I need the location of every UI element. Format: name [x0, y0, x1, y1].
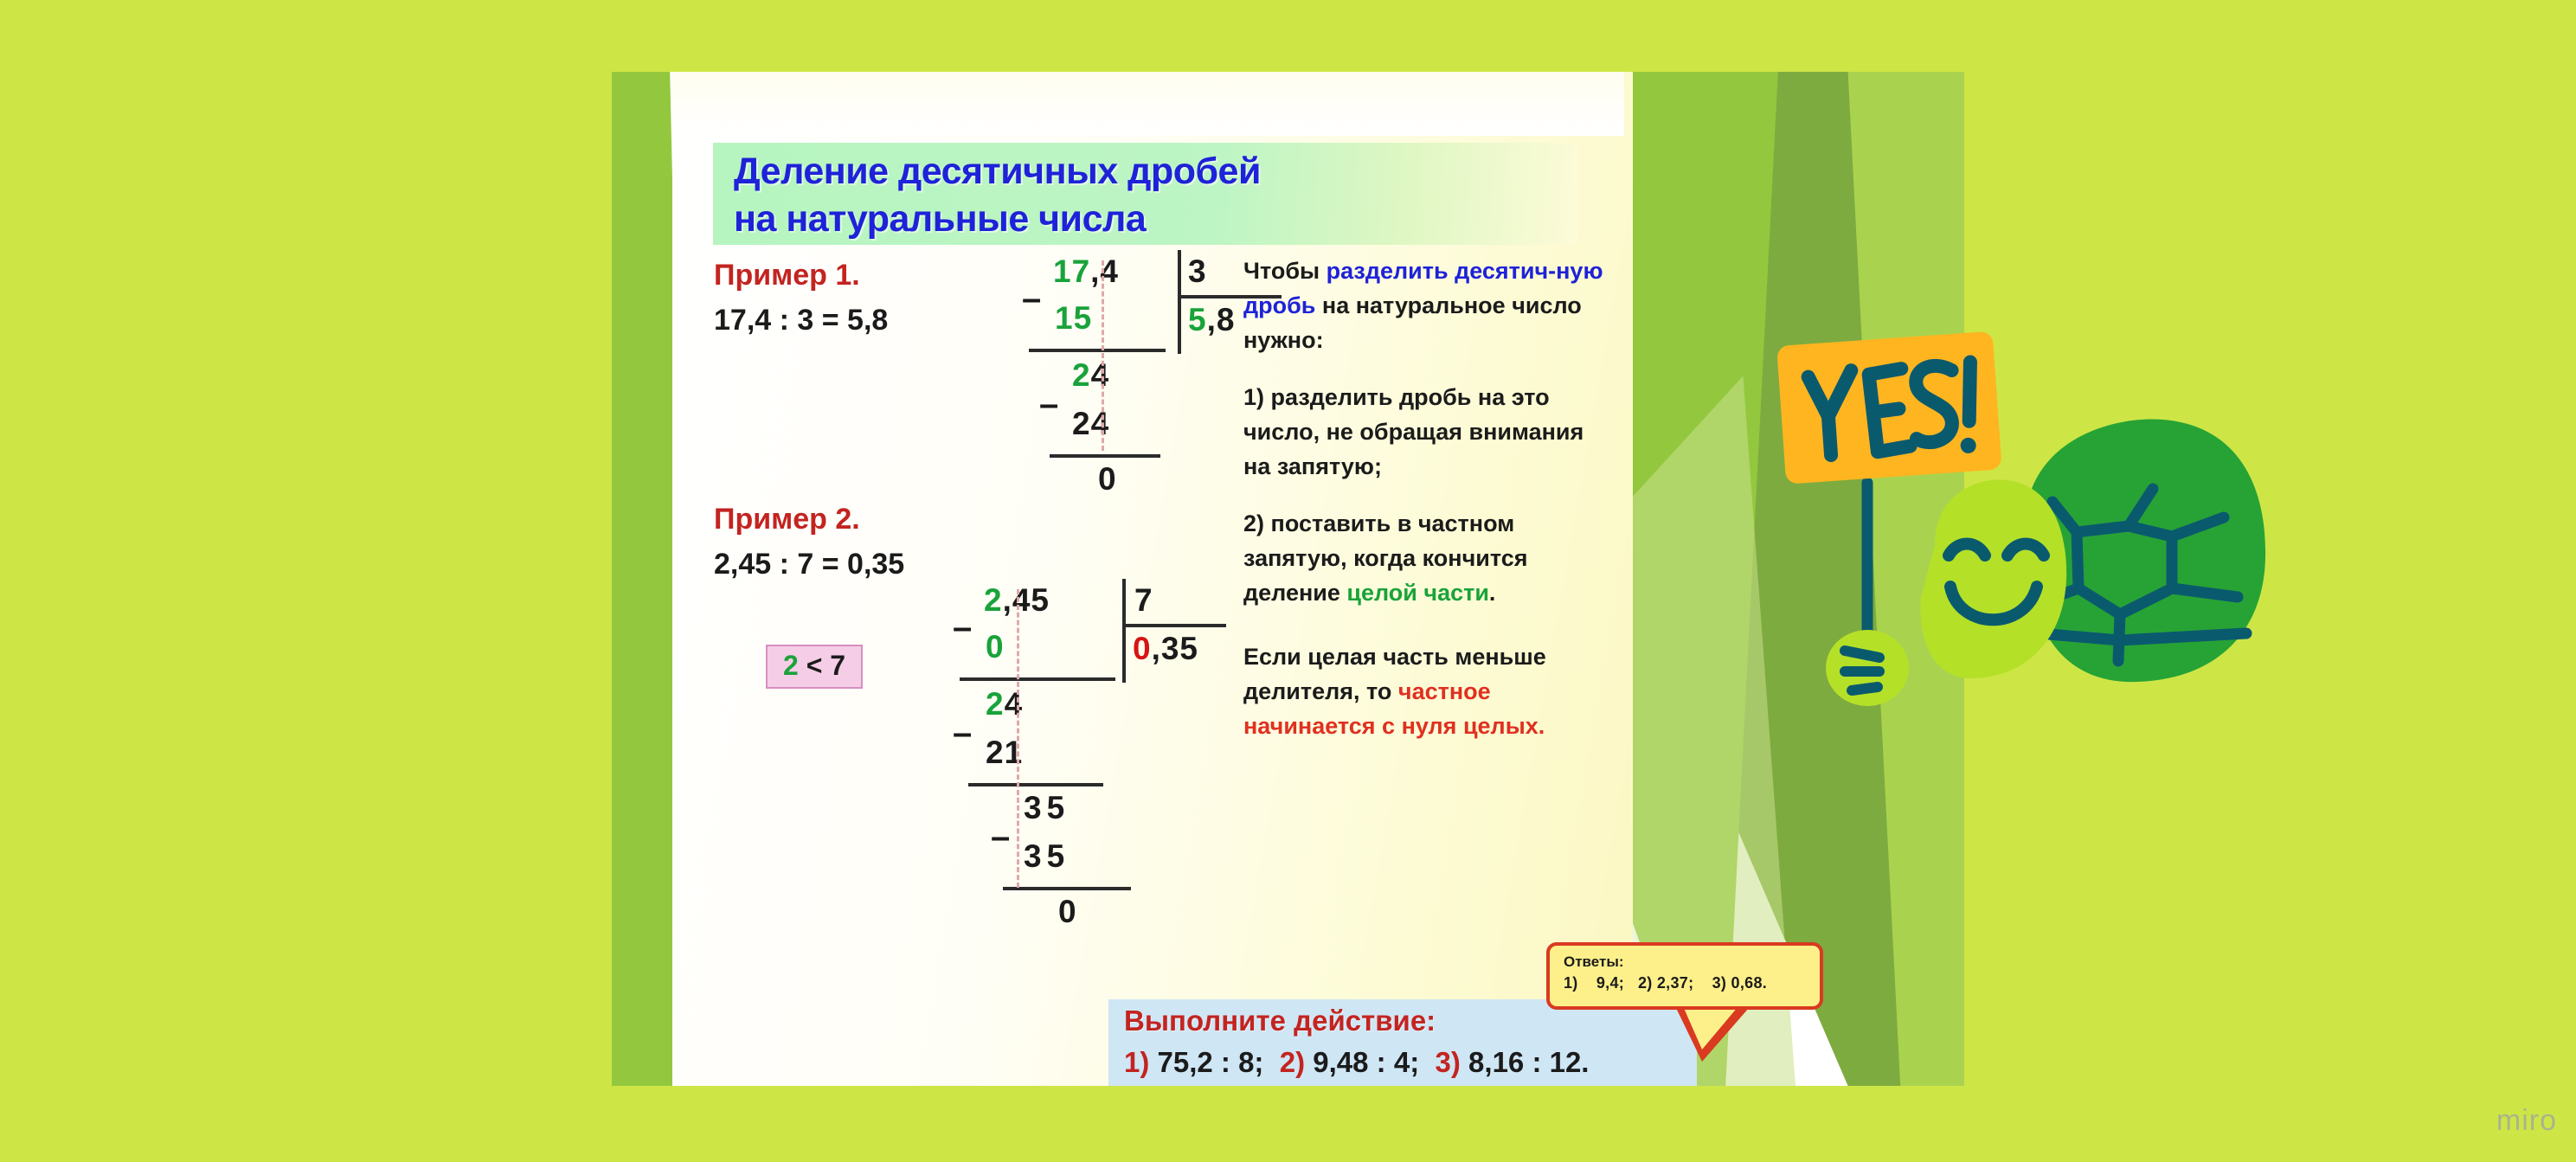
turtle-hand [1826, 630, 1909, 706]
ld2-rule-2 [968, 783, 1103, 786]
ld1-quotient: 5,8 [1188, 302, 1235, 338]
ld2-step-35a: 35 [1024, 790, 1070, 826]
title-line-2: на натуральные числа [734, 196, 1578, 243]
answer-num-1: 1) [1564, 974, 1578, 992]
task-expr-1: 75,2 : 8; [1158, 1046, 1264, 1078]
comparison-badge: 2 < 7 [766, 645, 863, 689]
ld2-decimal-guide [1017, 589, 1019, 888]
ld1-divisor: 3 [1188, 254, 1207, 290]
page-title: Деление десятичных дробей на натуральные… [713, 143, 1578, 245]
examples-column: Пример 1. 17,4 : 3 = 5,8 Пример 2. 2,45 … [690, 254, 1209, 1032]
answer-num-3: 3) [1712, 974, 1727, 992]
slide-card: Деление десятичных дробей на натуральные… [612, 72, 1964, 1086]
task-num-2: 2) [1280, 1046, 1305, 1078]
rule-column: Чтобы разделить десятич-ную дробь на нат… [1243, 254, 1607, 766]
answers-items: 1) 9,4; 2) 2,37; 3) 0,68. [1564, 974, 1820, 992]
task-expr-2: 9,48 : 4; [1313, 1046, 1419, 1078]
answer-num-2: 2) [1638, 974, 1653, 992]
answer-val-3: 0,68. [1731, 974, 1768, 992]
yes-sign [1776, 331, 2002, 485]
content-sheet: Деление десятичных дробей на натуральные… [672, 72, 1633, 1086]
ld1-decimal-guide [1102, 260, 1104, 451]
task-panel: Выполните действие: 1) 75,2 : 8; 2) 9,48… [1108, 999, 1697, 1086]
ld2-minus-3: – [991, 818, 1010, 857]
ld2-minus-1: – [953, 608, 972, 647]
ld1-rule-1 [1029, 349, 1166, 352]
ld2-step-0: 0 [986, 629, 1005, 665]
sheet-bottom-band [672, 72, 1624, 136]
ld1-remainder: 0 [1098, 461, 1117, 498]
ld2-vertical-bar [1122, 579, 1126, 683]
ld2-rule-3 [1003, 887, 1131, 890]
answer-val-1: 9,4; [1596, 974, 1624, 992]
answers-callout-tail-fill [1683, 1006, 1738, 1050]
ld2-minus-2: – [953, 714, 972, 753]
answers-callout: Ответы: 1) 9,4; 2) 2,37; 3) 0,68. [1546, 942, 1823, 1010]
comparison-rest: < 7 [799, 650, 845, 681]
task-expr-3: 8,16 : 12. [1468, 1046, 1589, 1078]
rule-intro-part-0: Чтобы [1243, 258, 1327, 284]
ld1-step-15: 15 [1055, 300, 1092, 337]
ld1-minus-2: – [1039, 385, 1058, 424]
example-1-heading: Пример 1. [714, 259, 860, 292]
rule-note-c: . [1539, 713, 1545, 739]
ld2-quotient: 0,35 [1133, 631, 1198, 667]
example-2-equation: 2,45 : 7 = 0,35 [714, 548, 904, 581]
rule-step-1: 1) разделить дробь на это число, не обра… [1243, 380, 1607, 484]
ld1-vertical-bar [1178, 250, 1181, 354]
ld2-divisor-underline [1124, 624, 1226, 627]
ld2-remainder: 0 [1058, 894, 1077, 930]
answer-val-2: 2,37; [1657, 974, 1694, 992]
ld1-dividend: 17,4 [1053, 254, 1119, 290]
rule-step-2-c: . [1489, 580, 1496, 606]
example-1-equation: 17,4 : 3 = 5,8 [714, 304, 888, 337]
title-line-1: Деление десятичных дробей [734, 148, 1578, 196]
task-items: 1) 75,2 : 8; 2) 9,48 : 4; 3) 8,16 : 12. [1124, 1046, 1697, 1079]
rule-step-2-b: целой части [1346, 580, 1489, 606]
ld1-minus-1: – [1022, 279, 1041, 318]
ld2-step-35b: 35 [1024, 838, 1070, 875]
ld2-rule-1 [960, 677, 1115, 681]
turtle-mascot [1765, 329, 2302, 727]
ld2-divisor: 7 [1134, 582, 1153, 619]
rule-intro-part-1: разделить десятич- [1327, 258, 1557, 284]
long-division-example-1: 17,4 3 – 15 5,8 [1018, 254, 1278, 496]
rule-note-a: Если целая часть меньше делителя, то [1243, 644, 1546, 704]
example-2-heading: Пример 2. [714, 503, 860, 536]
long-division-example-2: 2,45 7 – 0 0,35 24 – 21 [949, 582, 1226, 894]
rule-note: Если целая часть меньше делителя, то час… [1243, 639, 1607, 743]
rule-intro: Чтобы разделить десятич-ную дробь на нат… [1243, 254, 1607, 357]
turtle-head [1920, 479, 2066, 678]
answers-title: Ответы: [1564, 953, 1820, 971]
rule-step-2: 2) поставить в частном запятую, когда ко… [1243, 506, 1607, 610]
task-num-1: 1) [1124, 1046, 1149, 1078]
comparison-left: 2 [783, 650, 799, 681]
body-columns: Пример 1. 17,4 : 3 = 5,8 Пример 2. 2,45 … [672, 254, 1633, 1032]
miro-watermark: miro [2496, 1104, 2557, 1138]
task-num-3: 3) [1436, 1046, 1461, 1078]
ld1-rule-2 [1050, 454, 1160, 458]
